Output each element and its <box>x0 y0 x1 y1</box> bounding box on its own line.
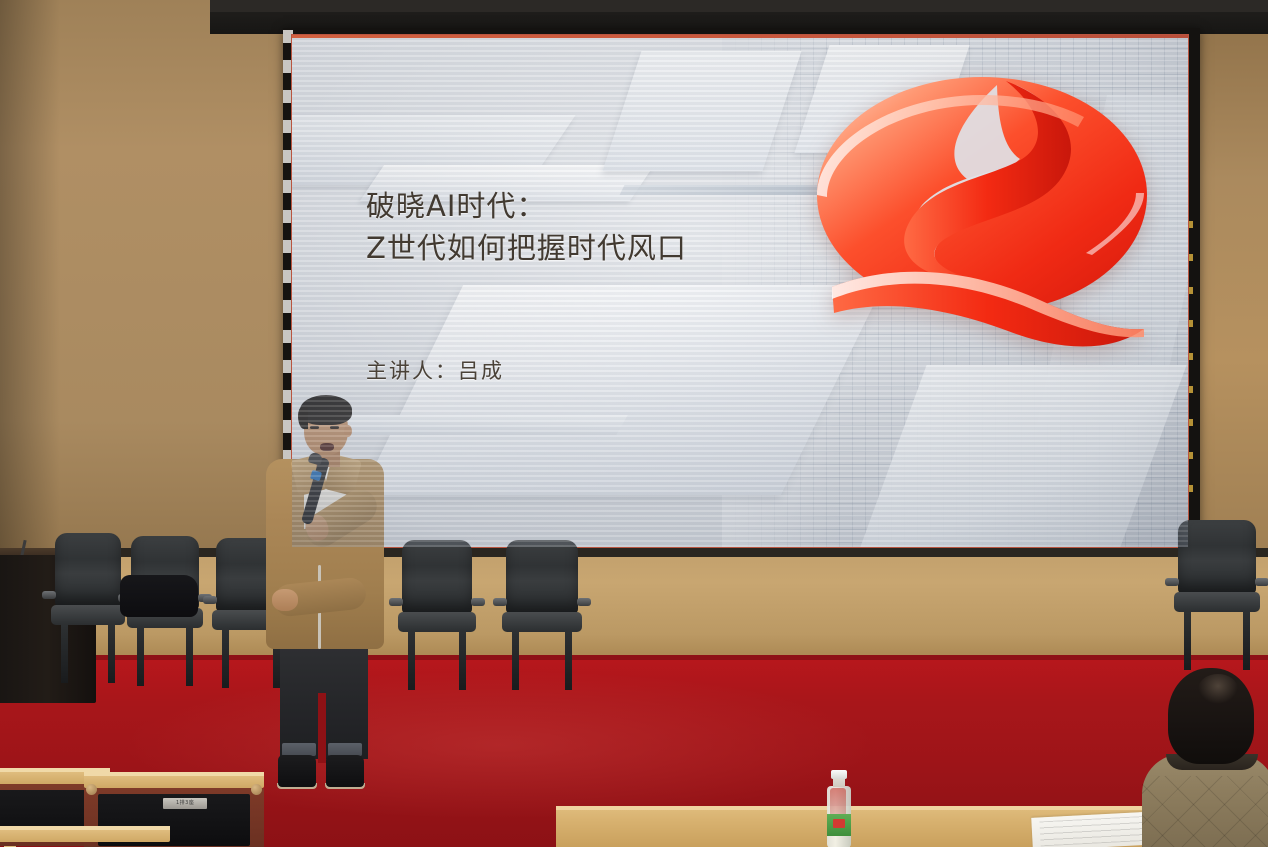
presenter-ear <box>344 425 352 437</box>
presenter-mouth <box>320 443 334 451</box>
presenter-boot <box>326 755 364 787</box>
chair-leg <box>186 626 193 686</box>
chair-seat <box>398 612 476 632</box>
chair-leg <box>459 630 466 690</box>
chair-leg <box>565 630 572 690</box>
chair-leg <box>1184 610 1191 670</box>
presenter-eye <box>310 426 319 429</box>
chair-arm <box>471 598 485 606</box>
chair-back <box>1178 520 1256 594</box>
chair-leg <box>222 628 229 688</box>
chair-arm <box>1255 578 1268 586</box>
projection-screen: 破晓AI时代： Z世代如何把握时代风口 主讲人：吕成 <box>291 34 1189 548</box>
slide-title-line-1: 破晓AI时代： <box>366 185 687 227</box>
presenter-eye <box>330 426 339 429</box>
chair-back <box>506 540 578 614</box>
presenter-hair-side <box>298 407 308 429</box>
chair-back <box>55 533 121 607</box>
presenter-leg-gap <box>318 693 326 763</box>
chair-leg <box>512 630 519 690</box>
auditorium-seat-row <box>0 826 170 847</box>
chair-arm <box>577 598 591 606</box>
bottle-label-mark <box>833 819 845 828</box>
screen-top-border <box>292 35 1188 38</box>
bottle-neck <box>833 779 845 787</box>
right-wall-panel <box>1196 0 1268 600</box>
chair-seat <box>502 612 582 632</box>
red-swoosh-logo <box>792 55 1172 365</box>
seat-knob <box>251 784 262 795</box>
chair-arm <box>203 596 217 604</box>
left-wall-shadow <box>0 0 60 600</box>
lecture-hall-photo: 破晓AI时代： Z世代如何把握时代风口 主讲人：吕成 淅 浙江大学 UNIVER… <box>0 0 1268 847</box>
chair-leg <box>108 623 115 683</box>
chair-back <box>402 540 472 614</box>
seat-desk-edge <box>84 772 264 776</box>
bottle-cap <box>831 770 847 779</box>
chair-arm <box>389 598 403 606</box>
presenter-hand <box>272 589 298 611</box>
water-bottle <box>826 770 852 847</box>
chair-arm <box>1165 578 1179 586</box>
ceiling-beam-edge <box>210 0 1268 12</box>
presenter-boot <box>278 755 316 787</box>
chair-arm <box>493 598 507 606</box>
chair-leg <box>61 623 68 683</box>
bag-on-chair <box>120 575 198 617</box>
audience-quilted-jacket <box>1142 776 1268 847</box>
seat-desk-edge <box>0 826 170 830</box>
audience-member <box>1148 668 1268 847</box>
slide-speaker-label: 主讲人：吕成 <box>366 355 504 385</box>
chair-seat <box>1174 592 1260 612</box>
chair-leg <box>137 626 144 686</box>
audience-hair-highlight <box>1198 674 1238 704</box>
chair-leg <box>408 630 415 690</box>
slide-title: 破晓AI时代： Z世代如何把握时代风口 <box>366 185 687 269</box>
seat-knob <box>86 784 97 795</box>
chair-seat <box>51 605 125 625</box>
chair-leg <box>1243 610 1250 670</box>
seat-number-plate: 1排3座 <box>163 798 207 809</box>
presenter <box>258 393 388 803</box>
slide-title-line-2: Z世代如何把握时代风口 <box>366 227 687 269</box>
chair-arm <box>42 591 56 599</box>
